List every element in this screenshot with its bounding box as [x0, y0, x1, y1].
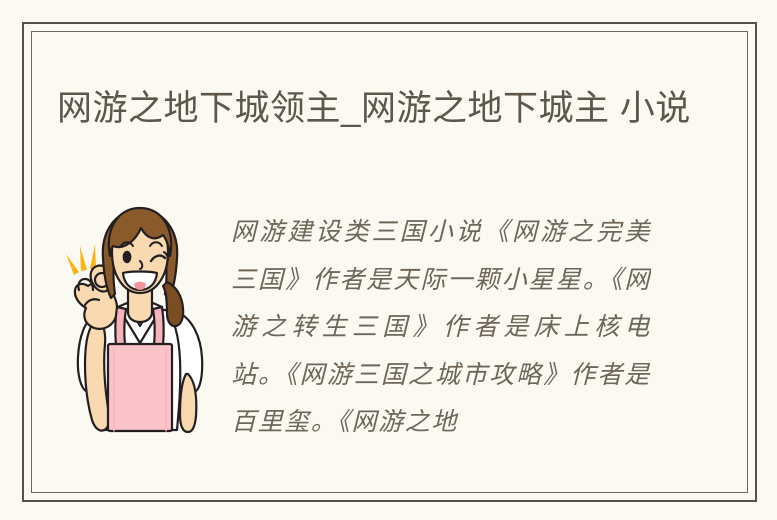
- neck: [128, 290, 152, 322]
- eye-open: [123, 251, 132, 263]
- arm-left: [85, 320, 109, 431]
- content-row: 网游建设类三国小说《网游之完美三国》作者是天际一颗小星星。《网游之转生三国》作者…: [0, 186, 777, 476]
- article-body-text: 网游建设类三国小说《网游之完美三国》作者是天际一颗小星星。《网游之转生三国》作者…: [231, 208, 651, 446]
- winking-woman-ok-gesture-illustration: [55, 194, 220, 434]
- apron-body: [108, 344, 172, 431]
- apron-strap-right: [153, 307, 164, 346]
- page-title: 网游之地下城领主_网游之地下城主 小说: [57, 85, 697, 132]
- apron-strap-left: [115, 307, 126, 346]
- arm-right: [180, 374, 196, 432]
